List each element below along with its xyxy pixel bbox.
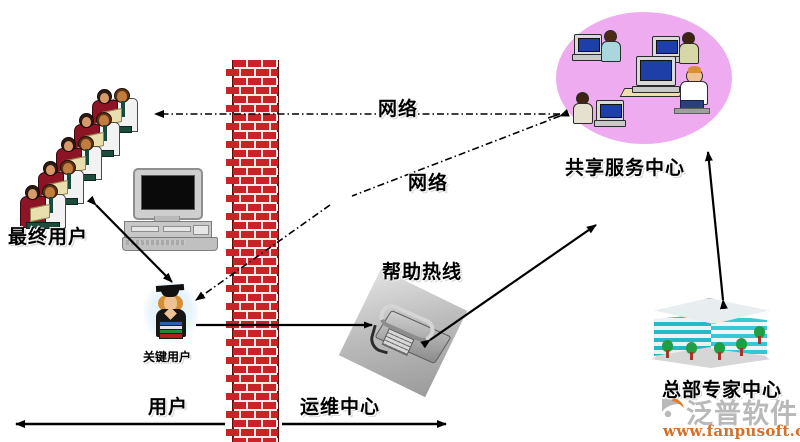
brick-row xyxy=(233,294,278,301)
brick-row xyxy=(233,384,278,391)
label-key-user: 关键用户 xyxy=(143,348,191,365)
graduate-person-icon xyxy=(144,281,198,343)
brick-row xyxy=(233,330,278,337)
office-workers-ellipse-icon xyxy=(556,12,732,144)
brick-row xyxy=(226,303,278,310)
brick-row xyxy=(233,402,278,409)
brick-row xyxy=(233,204,278,211)
brick-row xyxy=(226,285,278,292)
brick-row xyxy=(233,420,278,427)
brick-row xyxy=(226,195,278,202)
connector-hq-ssc xyxy=(708,152,723,300)
brick-row xyxy=(226,249,278,256)
telephone-icon xyxy=(366,305,448,363)
label-zone-ops-center: 运维中心 xyxy=(300,392,380,419)
brick-row xyxy=(226,141,278,148)
brick-row xyxy=(233,312,278,319)
brick-wall-icon xyxy=(232,60,279,442)
label-zone-user: 用户 xyxy=(148,392,188,419)
office-building-icon xyxy=(648,292,774,372)
brick-row xyxy=(233,150,278,157)
label-end-user: 最终用户 xyxy=(8,222,88,249)
brick-row xyxy=(233,240,278,247)
label-network-mid: 网络 xyxy=(408,168,448,195)
watermark: 泛普软件 www.fanpusoft.com xyxy=(660,392,800,440)
brick-row xyxy=(233,366,278,373)
brick-row xyxy=(226,393,278,400)
brick-row xyxy=(233,258,278,265)
brick-row xyxy=(233,348,278,355)
fanpu-logo-icon xyxy=(660,396,686,420)
brick-row xyxy=(233,132,278,139)
brick-row xyxy=(226,177,278,184)
brick-row xyxy=(233,276,278,283)
brick-row xyxy=(233,222,278,229)
brick-row xyxy=(233,78,278,85)
brick-row xyxy=(226,69,278,76)
brick-row xyxy=(226,213,278,220)
label-shared-service-center: 共享服务中心 xyxy=(565,153,685,180)
brick-row xyxy=(226,357,278,364)
brick-row xyxy=(226,339,278,346)
brick-row xyxy=(226,321,278,328)
label-help-hotline: 帮助热线 xyxy=(382,257,462,284)
brick-row xyxy=(226,123,278,130)
brick-wall-texture xyxy=(233,60,278,442)
diagram-canvas: 最终用户 关键用户 网络 网络 帮助热线 共享服务中心 总部专家中心 用户 运维… xyxy=(0,0,800,442)
brick-row xyxy=(226,375,278,382)
brick-row xyxy=(226,159,278,166)
desktop-computer-icon xyxy=(122,168,218,250)
brick-row xyxy=(233,168,278,175)
brick-row xyxy=(226,105,278,112)
brick-row xyxy=(233,186,278,193)
brick-row xyxy=(233,114,278,121)
connector-network-mid-upper xyxy=(352,116,560,196)
brick-row xyxy=(233,438,278,442)
brick-row xyxy=(233,60,278,67)
brick-row xyxy=(233,96,278,103)
brick-row xyxy=(226,411,278,418)
brick-row xyxy=(226,429,278,436)
label-network-top: 网络 xyxy=(378,94,418,121)
watermark-url: www.fanpusoft.com xyxy=(663,422,800,440)
brick-row xyxy=(226,231,278,238)
brick-row xyxy=(226,87,278,94)
brick-row xyxy=(226,267,278,274)
